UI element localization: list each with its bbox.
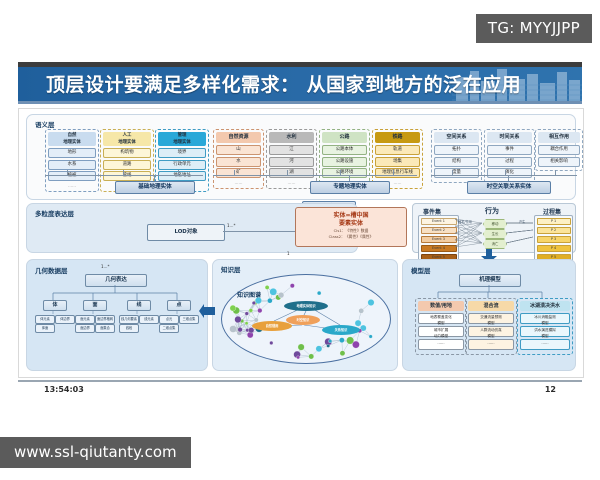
semantic-summary-box: 基础地理实体 xyxy=(115,181,195,194)
model-box-item: 冰川消融监测模型 xyxy=(520,313,570,324)
column-riser xyxy=(287,170,288,175)
model-box: 数值/用地地表覆盖变化模型城市扩展动力模型…… xyxy=(415,298,467,355)
model-box-item: 洪水演进模拟模型 xyxy=(520,326,570,337)
semantic-column-item: 公路设施 xyxy=(322,157,367,167)
geometry-layer-panel: 几何数据层 几何表达 1…* 体体元素体边界体面面面元素面边界格网面边界面集合线… xyxy=(26,259,208,371)
edge-left-label: 触发/作用 xyxy=(458,219,472,224)
semantic-column-item: 轨道 xyxy=(375,145,420,155)
process-chip: P 1 xyxy=(537,218,571,226)
column-riser xyxy=(234,170,235,175)
event-chip: Event 4 xyxy=(421,245,457,253)
event-chip: Event 2 xyxy=(421,227,457,235)
semantic-column-header: 管理地理实体 xyxy=(158,132,206,146)
semantic-layer-panel: 语义层 自然地理实体地形水系植被……人工地理实体构筑物道路管线……管理地理实体境… xyxy=(26,114,576,200)
geometry-leaf-node: 线段 xyxy=(119,324,139,333)
geometry-leaf-node: 点元 xyxy=(159,315,179,324)
architecture-diagram: 语义层 自然地理实体地形水系植被……人工地理实体构筑物道路管线……管理地理实体境… xyxy=(18,108,584,378)
footer-timestamp: 13:54:03 xyxy=(44,385,84,394)
bus-line xyxy=(45,175,203,176)
semantic-column: 相互作用耦合作用相关影响 xyxy=(535,129,583,171)
column-riser xyxy=(340,170,341,175)
model-box-item: 人群流动仿真模型 xyxy=(468,326,514,337)
geometry-leaf-node: 面集合 xyxy=(95,324,115,333)
semantic-column-item: 河 xyxy=(269,157,314,167)
semantic-column-item: 行政单元 xyxy=(158,160,206,170)
bus-line xyxy=(213,175,417,176)
semantic-column-item: 拓扑 xyxy=(434,145,479,155)
lod-object-box: LOD对象 xyxy=(147,224,225,241)
semantic-column-more: …… xyxy=(216,180,261,186)
tg-watermark-badge: TG: MYYJJPP xyxy=(476,14,592,43)
semantic-column-item: 演化 xyxy=(487,168,532,178)
behavior-node: 消亡 xyxy=(483,239,507,249)
model-box-item: 地表覆盖变化模型 xyxy=(418,313,464,324)
slide-canvas: TG: MYYJJPP 顶层设计要满足多样化需求： 从国家到地方的泛在应用 xyxy=(0,0,600,432)
page-title: 顶层设计要满足多样化需求： 从国家到地方的泛在应用 xyxy=(46,70,521,97)
model-layer-panel: 模型层 机理模型 数值/用地地表覆盖变化模型城市扩展动力模型……混合流交通流量预… xyxy=(402,259,576,371)
semantic-column-header: 时间关系 xyxy=(487,132,532,143)
footer-divider xyxy=(18,380,582,382)
edge-right-label: 产生 xyxy=(519,219,525,224)
geometry-leaf-node: 二维点集 xyxy=(159,324,179,333)
semantic-column-item: 管线 xyxy=(103,171,151,181)
knowledge-layer-label: 知识层 xyxy=(221,264,241,274)
model-box-header: 冰湖溃决洪水 xyxy=(520,301,570,311)
semantic-column-item: 事件 xyxy=(487,145,532,155)
entity-line-2: 要素实体 xyxy=(296,220,406,228)
semantic-column-item: 场集 xyxy=(375,157,420,167)
column-riser xyxy=(505,170,506,175)
column-riser xyxy=(178,170,179,175)
semantic-column-header: 水利 xyxy=(269,132,314,143)
title-band: 顶层设计要满足多样化需求： 从国家到地方的泛在应用 xyxy=(18,67,582,101)
column-riser xyxy=(123,170,124,175)
semantic-column-item: 结构 xyxy=(434,157,479,167)
model-box-header: 数值/用地 xyxy=(418,301,464,311)
model-box-item: …… xyxy=(468,339,514,350)
semantic-column-item: 地名地址 xyxy=(158,171,206,181)
semantic-column: 水利江河湖…… xyxy=(266,129,317,189)
semantic-column-item: 公路环境 xyxy=(322,168,367,178)
event-chip-column: Event 1Event 2Event 3Event 4Event 5 xyxy=(418,215,459,265)
geometry-branch-node: 面 xyxy=(83,300,107,311)
model-box-item: …… xyxy=(418,339,464,350)
semantic-layer-label: 语义层 xyxy=(35,119,55,129)
semantic-column-header: 自然地理实体 xyxy=(48,132,96,146)
semantic-column-item: 度量 xyxy=(434,168,479,178)
knowledge-graph-ellipse: 地理实体知识自然规则时空知识关系知识 xyxy=(221,274,391,364)
semantic-column-item: 公路本体 xyxy=(322,145,367,155)
semantic-column-item: 江 xyxy=(269,145,314,155)
geometry-leaf-node: 体边界 xyxy=(55,315,75,324)
knowledge-hub: 地理实体知识 xyxy=(284,301,328,311)
event-chip: Event 3 xyxy=(421,236,457,244)
column-riser xyxy=(555,170,556,175)
semantic-summary-box: 时空关联关系实体 xyxy=(467,181,551,194)
knowledge-hub: 时空知识 xyxy=(286,315,320,325)
behavior-panel: 事件集 行为 过程集 Event 1Event 2Event 3Event 4E… xyxy=(412,203,576,253)
url-watermark-badge: www.ssl-qiutanty.com xyxy=(0,437,191,468)
semantic-column-item: 地理信息行车线 xyxy=(375,168,420,178)
semantic-column-header: 空间关系 xyxy=(434,132,479,143)
process-chip-column: P 1P 2P 3P 4P 5 xyxy=(534,215,573,265)
semantic-column-item: 过程 xyxy=(487,157,532,167)
model-box-header: 混合流 xyxy=(468,301,514,311)
semantic-column-item: 山 xyxy=(216,145,261,155)
semantic-column-item: 湖 xyxy=(269,168,314,178)
semantic-column-item: 地形 xyxy=(48,148,96,158)
column-riser xyxy=(452,170,453,175)
model-box-item: 交通流量预测模型 xyxy=(468,313,514,324)
semantic-column: 自然资源山水矿…… xyxy=(213,129,264,189)
left-arrow-icon xyxy=(199,304,215,318)
geometry-leaf-node: 面元素 xyxy=(75,315,95,324)
process-chip: P 2 xyxy=(537,227,571,235)
column-riser xyxy=(67,170,68,175)
semantic-column-header: 自然资源 xyxy=(216,132,261,143)
semantic-column-more: …… xyxy=(269,180,314,186)
knowledge-layer-panel: 知识层 地理实体知识自然规则时空知识关系知识 知识图谱 xyxy=(212,259,398,371)
semantic-column: 公路公路本体公路设施公路环境…… xyxy=(319,129,370,189)
column-riser xyxy=(393,170,394,175)
semantic-summary-box: 专题地理实体 xyxy=(310,181,390,194)
geometry-leaf-node: 面边界 xyxy=(75,324,95,333)
geometry-branch-node: 体 xyxy=(43,300,67,311)
process-chip: P 4 xyxy=(537,245,571,253)
bus-line xyxy=(431,175,577,176)
entity-definition-box: 实体=槽中国 要素实体 Cls1：《特性》数据 Class2：《属性》《属性》 xyxy=(295,207,407,247)
geometry-branch-node: 点 xyxy=(167,300,191,311)
geometry-branch-node: 线 xyxy=(127,300,151,311)
geometry-leaf-node: 线元素 xyxy=(139,315,159,324)
semantic-column-item: 耦合作用 xyxy=(538,145,580,155)
semantic-column-header: 铁路 xyxy=(375,132,420,143)
semantic-column-header: 人工地理实体 xyxy=(103,132,151,146)
semantic-column-item: 相关影响 xyxy=(538,157,580,167)
behavior-label: 行为 xyxy=(485,206,499,216)
mult-left: 1…* xyxy=(227,223,236,228)
semantic-column: 自然地理实体地形水系植被…… xyxy=(45,129,99,192)
entity-line-1: 实体=槽中国 xyxy=(296,212,406,220)
knowledge-graph-label: 知识图谱 xyxy=(237,290,261,299)
geometry-leaf-node: 三维点集 xyxy=(179,315,199,324)
slide-title-bar: 顶层设计要满足多样化需求： 从国家到地方的泛在应用 xyxy=(18,62,582,106)
semantic-column-item: 境界 xyxy=(158,148,206,158)
process-chip: P 3 xyxy=(537,236,571,244)
mult-bottom: 1 xyxy=(287,251,290,256)
knowledge-hub: 关系知识 xyxy=(322,325,360,335)
geometry-leaf-node: 线几何要素 xyxy=(119,315,139,324)
geometry-leaf-node: 体面 xyxy=(35,324,55,333)
semantic-column: 铁路轨道场集地理信息行车线…… xyxy=(372,129,423,189)
geometry-leaf-node: 面边界格网 xyxy=(95,315,115,324)
granularity-layer-label: 多粒度表达层 xyxy=(35,208,74,218)
entity-sub-2: Class2：《属性》《属性》 xyxy=(296,234,406,240)
semantic-column-more: …… xyxy=(48,183,96,189)
semantic-column-header: 相互作用 xyxy=(538,132,580,143)
semantic-column-header: 公路 xyxy=(322,132,367,143)
title-bottom-rule xyxy=(18,101,582,104)
footer-page-number: 12 xyxy=(545,385,556,394)
semantic-column-item: 水系 xyxy=(48,160,96,170)
semantic-column-item: 矿 xyxy=(216,168,261,178)
model-box: 冰湖溃决洪水冰川消融监测模型洪水演进模拟模型…… xyxy=(517,298,573,355)
semantic-column-item: 植被 xyxy=(48,171,96,181)
event-chip: Event 1 xyxy=(421,218,457,226)
semantic-column-item: 道路 xyxy=(103,160,151,170)
behavior-node: 移动 xyxy=(483,219,507,229)
model-box-item: 城市扩展动力模型 xyxy=(418,326,464,337)
knowledge-hub: 自然规则 xyxy=(252,321,292,331)
model-box-item: …… xyxy=(520,339,570,350)
semantic-column-item: 构筑物 xyxy=(103,148,151,158)
geometry-leaf-node: 体元素 xyxy=(35,315,55,324)
behavior-node: 生长 xyxy=(483,229,507,239)
model-box: 混合流交通流量预测模型人群流动仿真模型…… xyxy=(465,298,517,355)
semantic-column-item: 水 xyxy=(216,157,261,167)
